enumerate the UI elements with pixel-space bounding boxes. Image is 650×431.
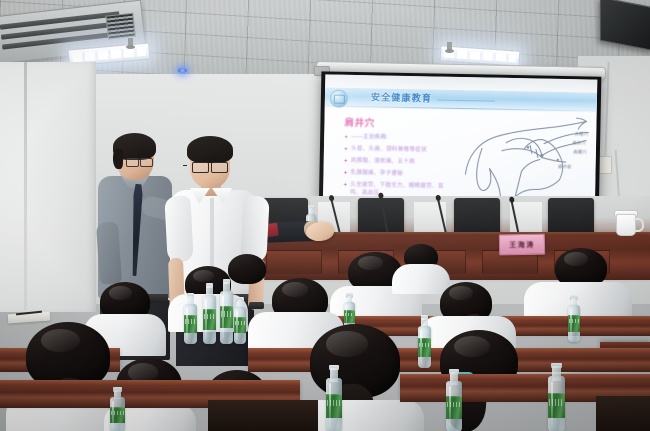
bullet-dot-icon [344,135,348,139]
sprinkler-icon [447,42,452,51]
teacup-handle [634,218,644,232]
water-bottle [234,300,246,344]
bench-edge [400,374,650,380]
water-bottle [446,372,462,431]
slide-banner-title: 安全健康教育 [371,90,432,104]
water-bottle [184,296,197,344]
audience-member [228,254,266,284]
water-bottle [568,298,580,342]
subject-right-sleeve [240,195,269,262]
bullet-dot-icon [343,182,347,186]
subject-hair [187,136,233,163]
glasses-bridge [183,165,187,166]
bench-edge [0,380,300,386]
slide-bullet: 乳腺酸痛、孕子便秘 [343,168,455,179]
podium-chair [548,198,594,234]
left-wall [0,62,96,312]
water-bottle [203,286,216,344]
photo-scene: 安全健康教育 肩井穴 ——主治疾病: 头昏、头痛、颈科脊椎等症状 肩膀酸、落枕痛 [0,0,650,431]
hair [228,254,266,284]
bench-shadow [596,396,650,431]
water-bottle [418,318,431,368]
slide-bullet: ——主治疾病: [344,133,456,144]
water-bottle [326,368,342,431]
sprinkler-icon [128,38,133,47]
slide-bullet-text: 肩膀酸、落枕痛、五十肩 [351,157,415,167]
glasses-icon [126,158,154,166]
slide-heading: 肩井穴 [344,115,456,131]
water-bottle [548,366,565,431]
ac-grille [105,13,136,40]
slide-body: 肩井穴 ——主治疾病: 头昏、头痛、颈科脊椎等症状 肩膀酸、落枕痛、五十肩 [343,115,457,203]
wall-corner [24,60,27,310]
water-bottle [220,282,233,344]
instructor-left-arm [96,221,122,284]
bench-shadow [208,400,318,431]
bullet-dot-icon [343,170,347,174]
slide-bullet-text: 头昏、头痛、颈科脊椎等症状 [351,145,427,155]
slide-bullet: 头昏、头痛、颈科脊椎等症状 [344,145,456,156]
slide-bullet-text: ——主治疾病: [351,133,388,142]
screen-status-led [178,68,187,73]
glasses-icon [192,162,230,172]
bullet-dot-icon [344,147,348,151]
teacup-icon [616,214,636,236]
water-bottle [110,390,125,431]
instructor-hair [113,133,156,160]
name-placard-text: 王海涛 [509,239,535,249]
presentation-slide: 安全健康教育 肩井穴 ——主治疾病: 头昏、头痛、颈科脊椎等症状 肩膀酸、落枕痛 [323,87,597,208]
name-placard: 王海涛 [499,234,545,256]
anatomy-diagram: 大椎穴 肩井穴 肩髃穴 肩中俞 肩 井穴 [461,108,591,209]
diagram-label: 肩中俞 [558,164,572,170]
slide-bullet-text: 乳腺酸痛、孕子便秘 [350,169,403,178]
diagram-label: 肩髃穴 [573,149,587,155]
wall-outlet-icon [598,156,612,174]
bullet-dot-icon [344,159,348,163]
subject-left-sleeve [164,195,193,262]
slide-bullet: 肩膀酸、落枕痛、五十肩 [344,157,456,168]
podium-chair [454,198,500,234]
diagram-label: 肩井穴 [573,140,587,146]
diagram-label: 大椎穴 [575,131,589,137]
wristwatch-icon [249,302,264,309]
